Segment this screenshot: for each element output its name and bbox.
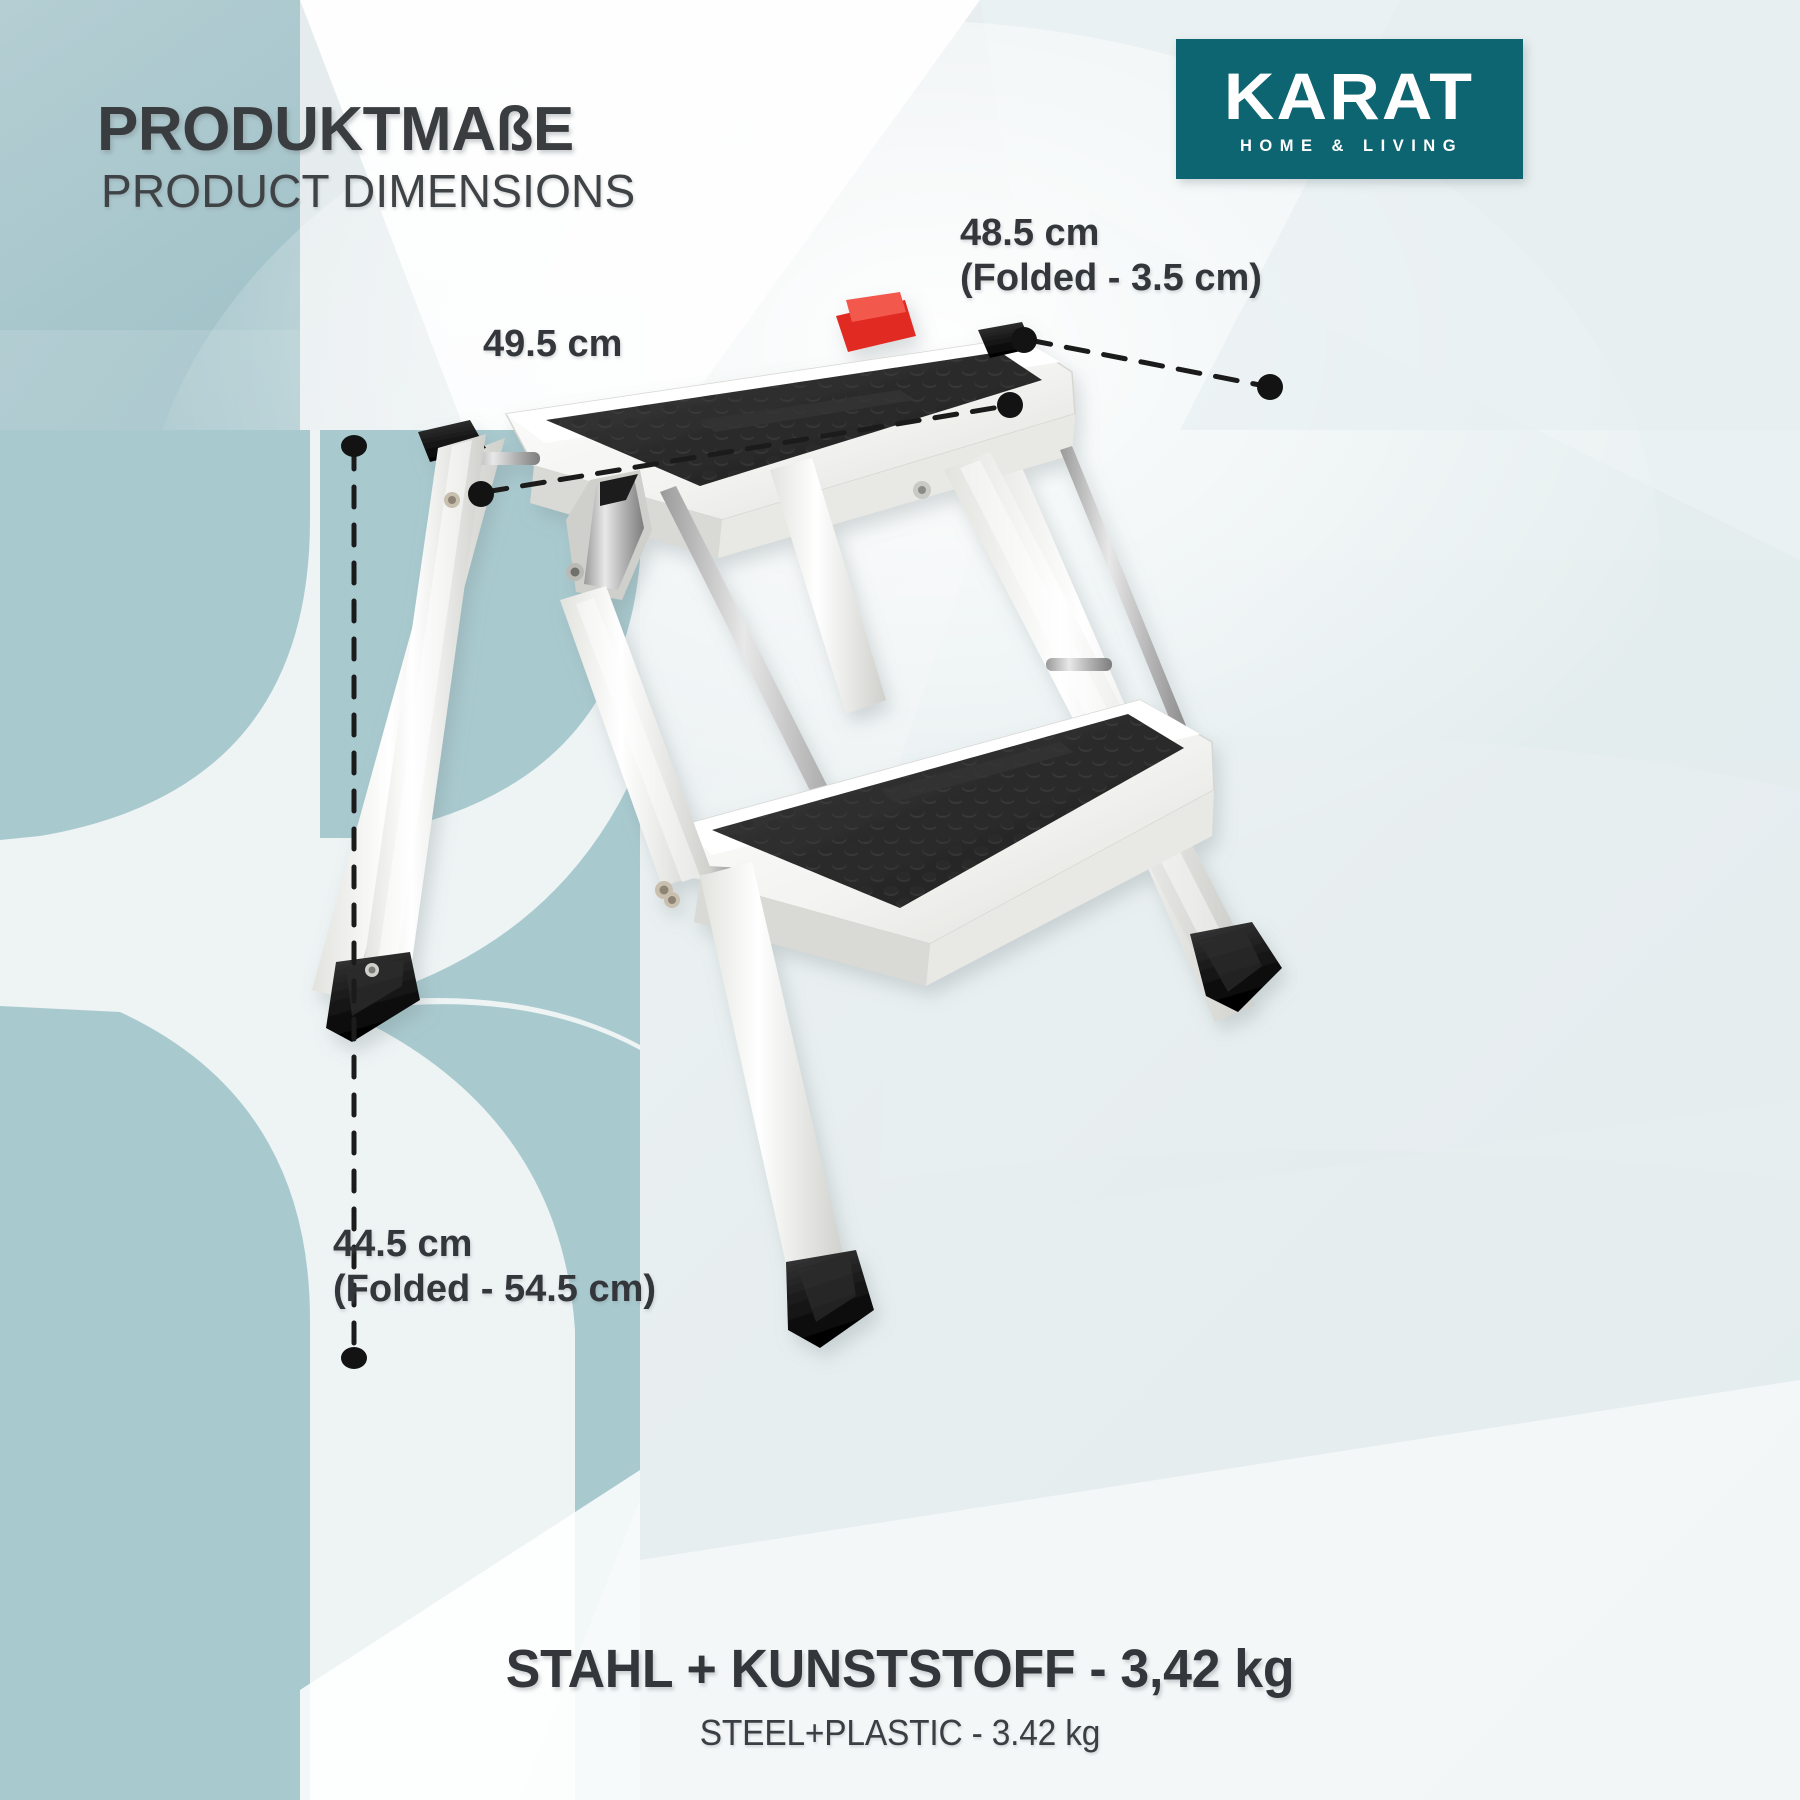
dimension-value: 44.5 cm bbox=[333, 1222, 656, 1267]
dimension-line-width-right bbox=[1029, 340, 1265, 386]
brand-logo: KARAT HOME & LIVING bbox=[1176, 39, 1523, 179]
dimension-value: 49.5 cm bbox=[483, 322, 622, 367]
dimension-endpoint bbox=[341, 435, 367, 457]
page-title-de: PRODUKTMAßE bbox=[97, 98, 635, 161]
dimension-line-width-left bbox=[485, 406, 1006, 492]
dimension-value-folded: (Folded - 54.5 cm) bbox=[333, 1267, 656, 1312]
brand-tagline: HOME & LIVING bbox=[1240, 138, 1463, 155]
dimension-endpoint bbox=[1011, 327, 1037, 353]
dimension-lines bbox=[0, 0, 1800, 1800]
dimension-endpoint bbox=[468, 481, 494, 507]
page-title-block: PRODUKTMAßE PRODUCT DIMENSIONS bbox=[97, 98, 635, 216]
page-title-en: PRODUCT DIMENSIONS bbox=[101, 167, 635, 215]
material-text-de: STAHL + KUNSTSTOFF - 3,42 kg bbox=[36, 1638, 1764, 1700]
dimension-value-folded: (Folded - 3.5 cm) bbox=[960, 256, 1262, 301]
dimension-label-width-right: 48.5 cm (Folded - 3.5 cm) bbox=[960, 211, 1262, 301]
material-text-en: STEEL+PLASTIC - 3.42 kg bbox=[63, 1712, 1737, 1754]
dimension-label-height: 44.5 cm (Folded - 54.5 cm) bbox=[333, 1222, 656, 1312]
dimension-endpoint bbox=[341, 1347, 367, 1369]
dimension-label-width-left: 49.5 cm bbox=[483, 322, 622, 367]
dimension-value: 48.5 cm bbox=[960, 211, 1262, 256]
infographic-canvas: PRODUKTMAßE PRODUCT DIMENSIONS KARAT HOM… bbox=[0, 0, 1800, 1800]
dimension-endpoint bbox=[1257, 374, 1283, 400]
brand-name: KARAT bbox=[1224, 63, 1474, 129]
dimension-endpoint bbox=[997, 392, 1023, 418]
